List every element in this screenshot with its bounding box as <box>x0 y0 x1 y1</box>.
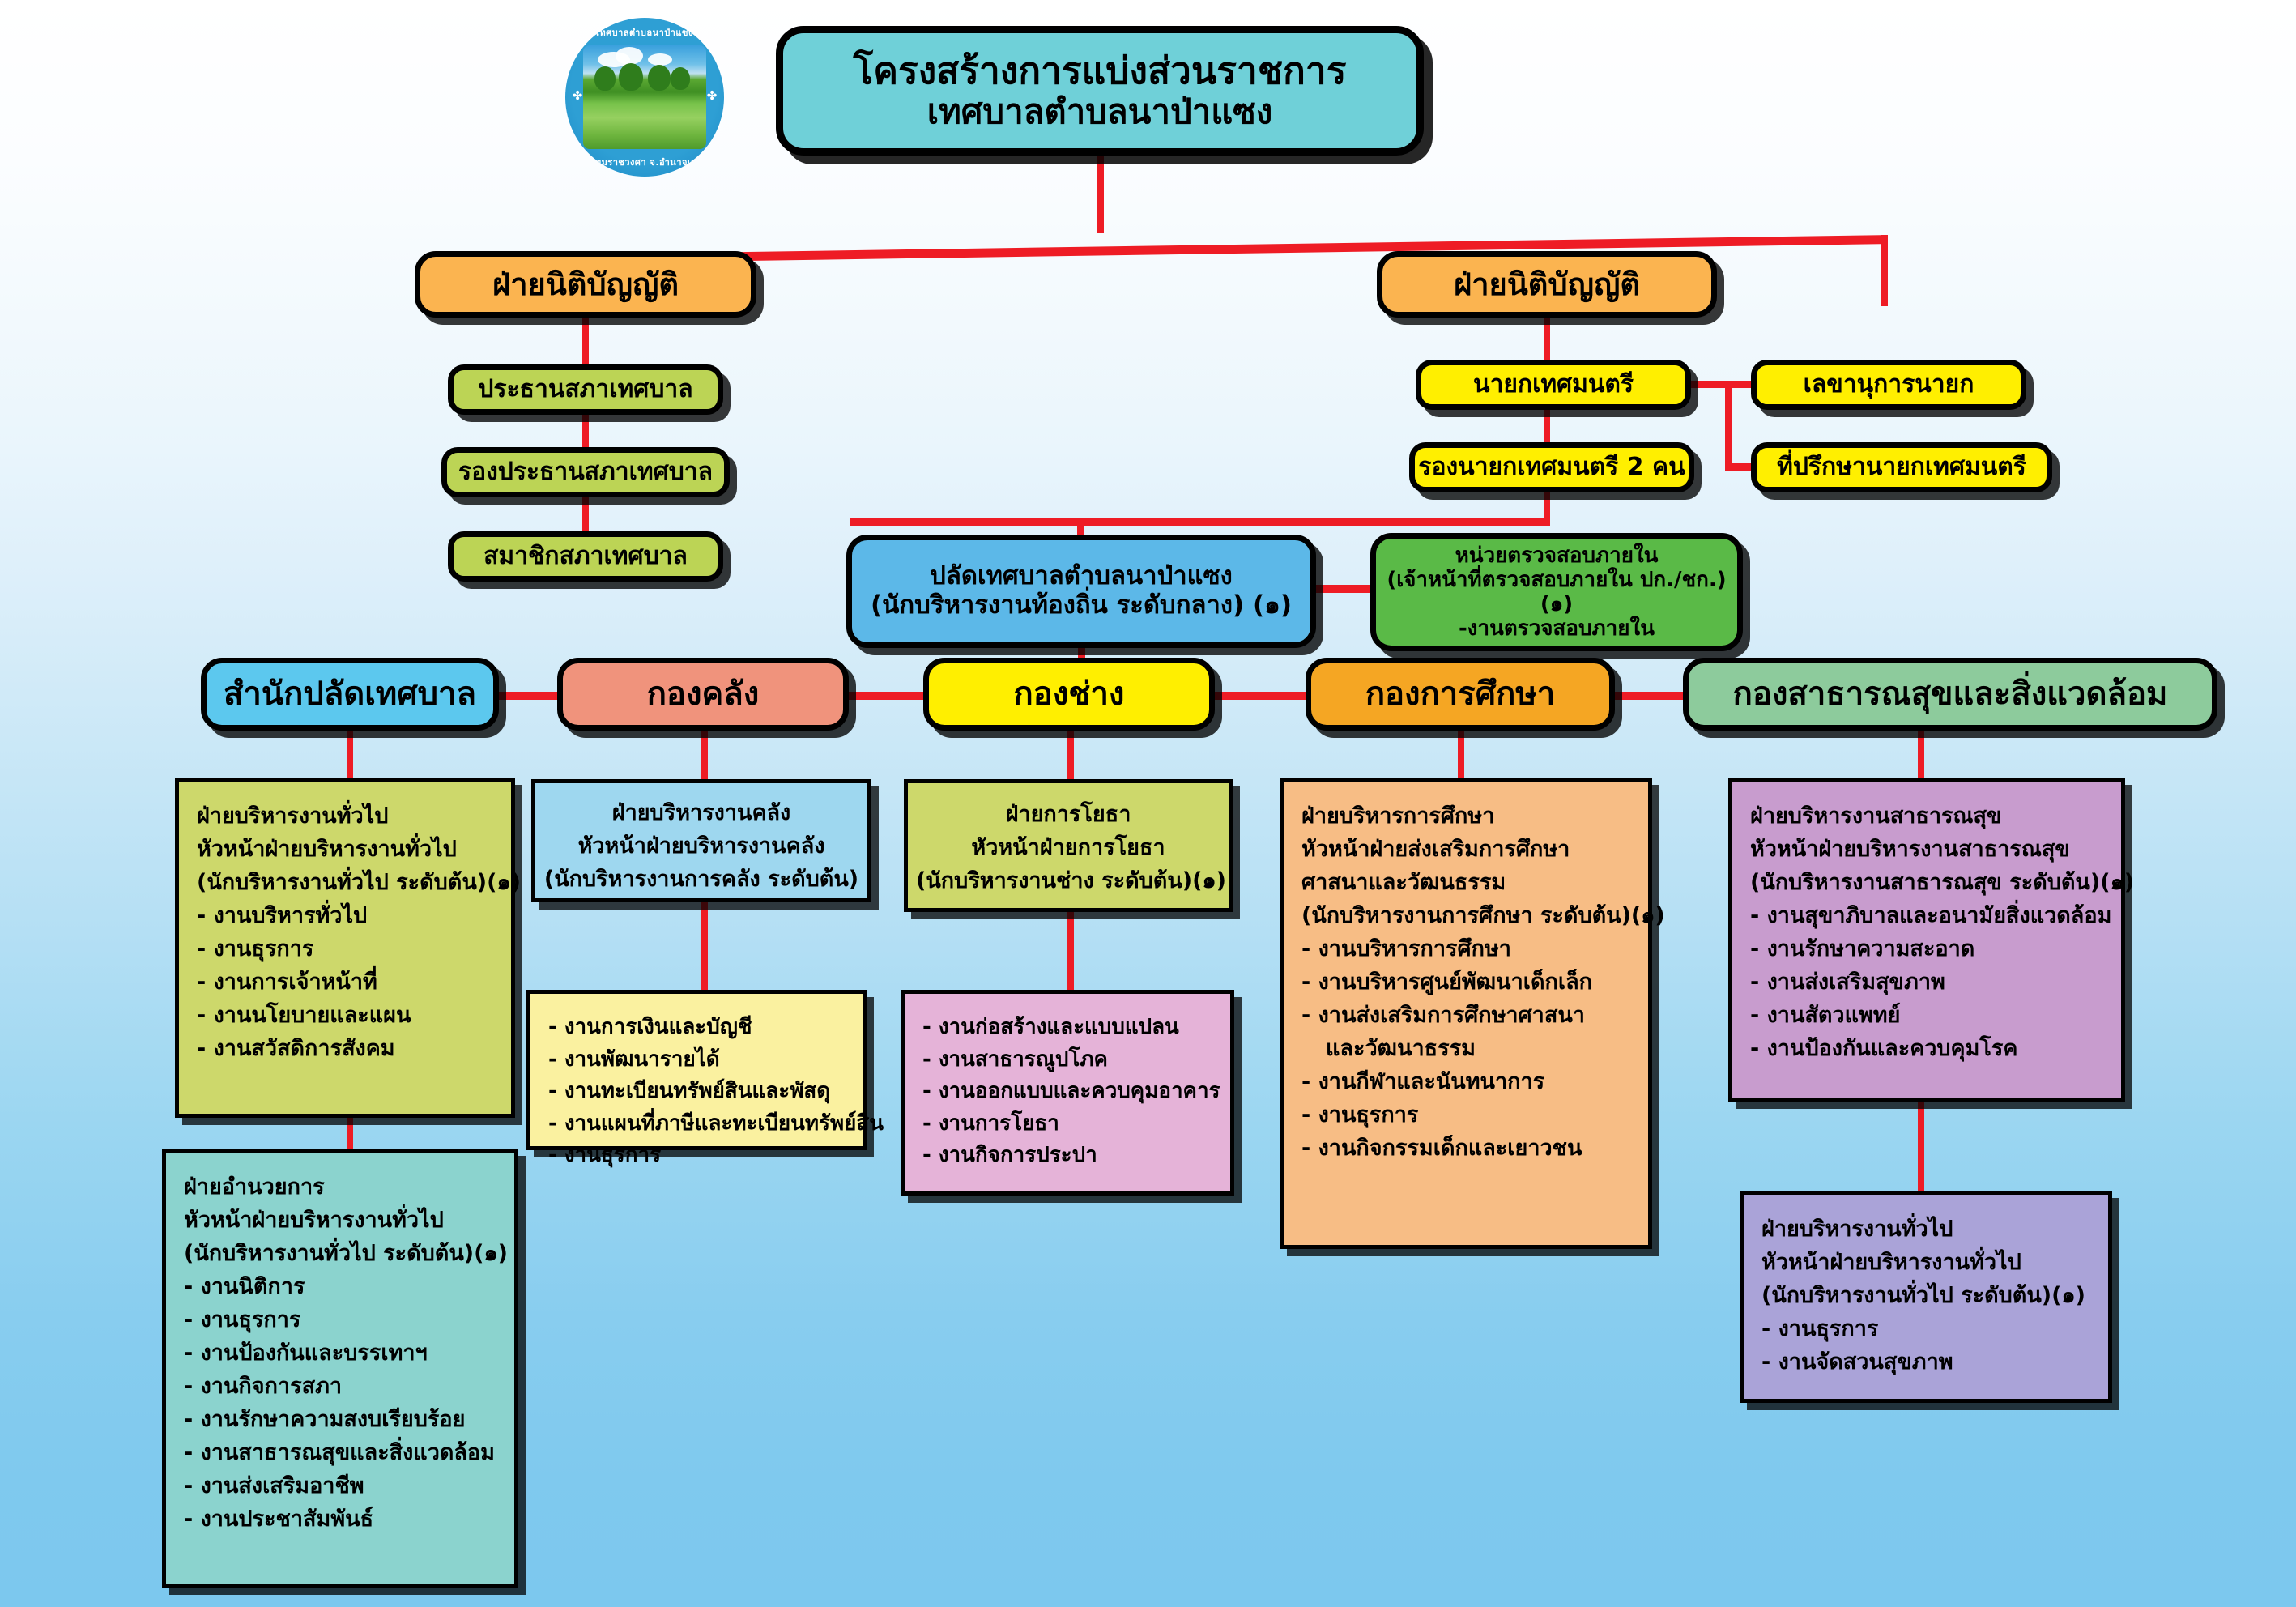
panel-health-main-header-2: (นักบริหารงานสาธารณสุข ระดับต้น)(๑) <box>1750 866 2105 899</box>
mayor-advisor-label: ที่ปรึกษานายกเทศมนตรี <box>1777 454 2026 482</box>
panel-education-header-0: ฝ่ายบริหารการศึกษา <box>1301 799 1632 833</box>
municipality-seal-logo: เทศบาลตำบลนาป่าแซง อ.ปทุมราชวงศา จ.อำนาจ… <box>565 18 724 177</box>
deputy-mayor-label: รองนายกเทศมนตรี 2 คน <box>1418 454 1685 482</box>
panel-office-general-item-0: - งานบริหารทั่วไป <box>197 899 495 932</box>
division-education[interactable]: กองการศึกษา <box>1306 658 1615 731</box>
mayor-secretary-node[interactable]: เลขานุการนายก <box>1751 360 2026 410</box>
panel-office-admin-item-4: - งานรักษาความสงบเรียบร้อย <box>184 1403 498 1436</box>
panel-health-general-item-0: - งานธุรการ <box>1761 1312 2092 1345</box>
panel-health-general-header-0: ฝ่ายบริหารงานทั่วไป <box>1761 1213 2092 1246</box>
panel-works-tasks: - งานก่อสร้างและแบบแปลน - งานสาธารณูปโภค… <box>901 990 1234 1196</box>
panel-health-main-item-2: - งานส่งเสริมสุขภาพ <box>1750 965 2105 999</box>
connector-treasury-down <box>701 729 708 781</box>
panel-office-general-item-3: - งานนโยบายและแผน <box>197 999 495 1032</box>
panel-health-main-item-1: - งานรักษาความสะอาด <box>1750 932 2105 965</box>
seal-star-right-icon: ✤ <box>705 89 718 102</box>
panel-works-head: ฝ่ายการโยธา หัวหน้าฝ่ายการโยธา (นักบริหา… <box>904 779 1233 912</box>
connector-right-branch-down <box>1881 235 1888 306</box>
panel-education-header-2: ศาสนาและวัฒนธรรม <box>1301 866 1632 899</box>
panel-treasury-tasks-item-4: - งานธุรการ <box>548 1140 846 1172</box>
panel-office-general-item-1: - งานธุรการ <box>197 932 495 965</box>
council-chairman-label: ประธานสภาเทศบาล <box>478 376 692 404</box>
legislative-branch-label: ฝ่ายนิติบัญญัติ <box>492 266 679 302</box>
panel-office-general-header-0: ฝ่ายบริหารงานทั่วไป <box>197 799 495 833</box>
mayor-label: นายกเทศมนตรี <box>1473 371 1634 399</box>
seal-top-text: เทศบาลตำบลนาป่าแซง <box>565 25 724 40</box>
panel-office-general-header-1: หัวหน้าฝ่ายบริหารงานทั่วไป <box>197 833 495 866</box>
connector-health-main-to-general <box>1918 1100 1924 1196</box>
panel-office-admin-header-2: (นักบริหารงานทั่วไป ระดับต้น)(๑) <box>184 1237 498 1270</box>
panel-office-admin-item-7: - งานประชาสัมพันธ์ <box>184 1503 498 1536</box>
connector-office-down <box>347 729 353 781</box>
executive-branch-header[interactable]: ฝ่ายนิติบัญญัติ <box>1377 251 1717 318</box>
panel-health-general-header-1: หัวหน้าฝ่ายบริหารงานทั่วไป <box>1761 1246 2092 1279</box>
division-health-environment-label: กองสาธารณสุขและสิ่งแวดล้อม <box>1733 676 2168 713</box>
panel-health-general-header-2: (นักบริหารงานทั่วไป ระดับต้น)(๑) <box>1761 1279 2092 1312</box>
council-members-node[interactable]: สมาชิกสภาเทศบาล <box>448 531 723 582</box>
council-vicechairman-label: รองประธานสภาเทศบาล <box>458 458 713 487</box>
executive-branch-label: ฝ่ายนิติบัญญัติ <box>1454 266 1640 302</box>
connector-legislative-spine <box>582 314 589 567</box>
panel-treasury-tasks-item-3: - งานแผนที่ภาษีและทะเบียนทรัพย์สิน <box>548 1108 846 1140</box>
council-members-label: สมาชิกสภาเทศบาล <box>483 543 688 571</box>
panel-treasury-head: ฝ่ายบริหารงานคลัง หัวหน้าฝ่ายบริหารงานคล… <box>531 779 871 902</box>
deputy-mayor-node[interactable]: รองนายกเทศมนตรี 2 คน <box>1409 442 1694 492</box>
panel-health-general: ฝ่ายบริหารงานทั่วไป หัวหน้าฝ่ายบริหารงาน… <box>1740 1191 2112 1403</box>
panel-treasury-head-header-1: หัวหน้าฝ่ายบริหารงานคลัง <box>543 829 859 863</box>
seal-landscape-image <box>583 45 706 149</box>
connector-works-down <box>1067 729 1074 781</box>
panel-office-general-header-2: (นักบริหารงานทั่วไป ระดับต้น)(๑) <box>197 866 495 899</box>
panel-office-admin-item-2: - งานป้องกันและบรรเทาฯ <box>184 1336 498 1370</box>
page-title: โครงสร้างการแบ่งส่วนราชการ เทศบาลตำบลนาป… <box>776 26 1424 156</box>
panel-office-general-item-4: - งานสวัสดิการสังคม <box>197 1032 495 1065</box>
panel-works-head-header-0: ฝ่ายการโยธา <box>916 798 1220 831</box>
panel-works-tasks-item-3: - งานการโยธา <box>922 1108 1214 1140</box>
panel-health-main-item-3: - งานสัตวแพทย์ <box>1750 999 2105 1032</box>
panel-education: ฝ่ายบริหารการศึกษา หัวหน้าฝ่ายส่งเสริมกา… <box>1280 778 1652 1249</box>
internal-audit-node[interactable]: หน่วยตรวจสอบภายใน (เจ้าหน้าที่ตรวจสอบภาย… <box>1370 533 1743 651</box>
connector-education-down <box>1458 729 1464 781</box>
panel-office-admin-item-3: - งานกิจการสภา <box>184 1370 498 1403</box>
connector-office-general-to-admin <box>347 1116 353 1152</box>
panel-treasury-head-header-0: ฝ่ายบริหารงานคลัง <box>543 796 859 829</box>
legislative-branch-header[interactable]: ฝ่ายนิติบัญญัติ <box>415 251 756 318</box>
panel-health-main-header-0: ฝ่ายบริหารงานสาธารณสุข <box>1750 799 2105 833</box>
division-treasury[interactable]: กองคลัง <box>557 658 849 731</box>
panel-treasury-tasks-item-1: - งานพัฒนารายได้ <box>548 1044 846 1076</box>
division-office-clerk[interactable]: สำนักปลัดเทศบาล <box>201 658 499 731</box>
panel-education-header-1: หัวหน้าฝ่ายส่งเสริมการศึกษา <box>1301 833 1632 866</box>
connector-works-head-to-tasks <box>1067 912 1074 991</box>
panel-office-general-item-2: - งานการเจ้าหน้าที่ <box>197 965 495 999</box>
panel-works-tasks-item-2: - งานออกแบบและควบคุมอาคาร <box>922 1076 1214 1108</box>
panel-office-admin-item-1: - งานธุรการ <box>184 1303 498 1336</box>
panel-education-item-0: - งานบริหารการศึกษา <box>1301 932 1632 965</box>
division-treasury-label: กองคลัง <box>647 676 760 713</box>
council-chairman-node[interactable]: ประธานสภาเทศบาล <box>448 364 723 415</box>
panel-works-head-header-1: หัวหน้าฝ่ายการโยธา <box>916 831 1220 864</box>
division-works[interactable]: กองช่าง <box>923 658 1215 731</box>
internal-audit-line1: หน่วยตรวจสอบภายใน <box>1455 543 1659 568</box>
panel-treasury-tasks-item-2: - งานทะเบียนทรัพย์สินและพัสดุ <box>548 1076 846 1108</box>
connector-treasury-head-to-tasks <box>701 901 708 991</box>
panel-treasury-tasks: - งานการเงินและบัญชี - งานพัฒนารายได้ - … <box>526 990 867 1150</box>
panel-education-item-5: - งานกิจกรรมเด็กและเยาวชน <box>1301 1132 1632 1165</box>
connector-mayor-to-right <box>1691 381 1756 388</box>
org-chart-canvas: เทศบาลตำบลนาป่าแซง อ.ปทุมราชวงศา จ.อำนาจ… <box>0 0 2296 1607</box>
division-education-label: กองการศึกษา <box>1365 676 1555 713</box>
mayor-secretary-label: เลขานุการนายก <box>1804 371 1974 399</box>
panel-education-item-4: - งานธุรการ <box>1301 1098 1632 1132</box>
panel-office-admin-header-1: หัวหน้าฝ่ายบริหารงานทั่วไป <box>184 1204 498 1237</box>
panel-office-general: ฝ่ายบริหารงานทั่วไป หัวหน้าฝ่ายบริหารงาน… <box>175 778 515 1118</box>
municipal-clerk-node[interactable]: ปลัดเทศบาลตำบลนาป่าแซง (นักบริหารงานท้อง… <box>846 535 1316 648</box>
council-vicechairman-node[interactable]: รองประธานสภาเทศบาล <box>441 447 730 497</box>
mayor-node[interactable]: นายกเทศมนตรี <box>1416 360 1691 410</box>
panel-works-tasks-item-4: - งานกิจการประปา <box>922 1140 1214 1172</box>
division-health-environment[interactable]: กองสาธารณสุขและสิ่งแวดล้อม <box>1683 658 2217 731</box>
panel-education-item-3: - งานกีฬาและนันทนาการ <box>1301 1065 1632 1098</box>
panel-office-admin-item-6: - งานส่งเสริมอาชีพ <box>184 1469 498 1503</box>
panel-office-admin-item-0: - งานนิติการ <box>184 1270 498 1303</box>
panel-office-admin-header-0: ฝ่ายอำนวยการ <box>184 1170 498 1204</box>
internal-audit-line2: (เจ้าหน้าที่ตรวจสอบภายใน ปก./ชก.) (๑) <box>1376 568 1737 616</box>
panel-health-main-item-4: - งานป้องกันและควบคุมโรค <box>1750 1032 2105 1065</box>
seal-bottom-text: อ.ปทุมราชวงศา จ.อำนาจเจริญ <box>565 155 724 169</box>
connector-deputy-to-clerk-bus <box>850 518 1550 526</box>
panel-education-item-2: - งานส่งเสริมการศึกษาศาสนา <box>1301 999 1632 1032</box>
connector-right-vertical <box>1725 381 1732 470</box>
panel-works-tasks-item-0: - งานก่อสร้างและแบบแปลน <box>922 1012 1214 1044</box>
connector-health-down <box>1918 729 1924 781</box>
municipal-clerk-line1: ปลัดเทศบาลตำบลนาป่าแซง <box>930 562 1233 591</box>
panel-treasury-tasks-item-0: - งานการเงินและบัญชี <box>548 1012 846 1044</box>
panel-education-subitem: และวัฒนาธรรม <box>1301 1032 1632 1065</box>
connector-clerk-to-audit <box>1316 585 1374 593</box>
panel-works-head-header-2: (นักบริหารงานช่าง ระดับต้น)(๑) <box>916 864 1220 897</box>
panel-education-header-3: (นักบริหารงานการศึกษา ระดับต้น)(๑) <box>1301 899 1632 932</box>
page-title-line2: เทศบาลตำบลนาป่าแซง <box>927 92 1273 132</box>
internal-audit-line3: -งานตรวจสอบภายใน <box>1459 616 1655 641</box>
panel-health-main-item-0: - งานสุขาภิบาลและอนามัยสิ่งแวดล้อม <box>1750 899 2105 932</box>
mayor-advisor-node[interactable]: ที่ปรึกษานายกเทศมนตรี <box>1751 442 2052 492</box>
page-title-line1: โครงสร้างการแบ่งส่วนราชการ <box>854 49 1347 92</box>
panel-education-item-1: - งานบริหารศูนย์พัฒนาเด็กเล็ก <box>1301 965 1632 999</box>
panel-works-tasks-item-1: - งานสาธารณูปโภค <box>922 1044 1214 1076</box>
panel-health-main: ฝ่ายบริหารงานสาธารณสุข หัวหน้าฝ่ายบริหาร… <box>1728 778 2125 1102</box>
panel-office-admin-item-5: - งานสาธารณสุขและสิ่งแวดล้อม <box>184 1436 498 1469</box>
seal-star-left-icon: ✤ <box>571 89 584 102</box>
panel-health-general-item-1: - งานจัดสวนสุขภาพ <box>1761 1345 2092 1379</box>
division-works-label: กองช่าง <box>1014 676 1125 713</box>
division-office-clerk-label: สำนักปลัดเทศบาล <box>224 676 476 713</box>
panel-treasury-head-header-2: (นักบริหารงานการคลัง ระดับต้น) <box>543 863 859 896</box>
municipal-clerk-line2: (นักบริหารงานท้องถิ่น ระดับกลาง) (๑) <box>871 591 1292 620</box>
panel-office-admin: ฝ่ายอำนวยการ หัวหน้าฝ่ายบริหารงานทั่วไป … <box>162 1149 518 1588</box>
connector-title-down <box>1097 156 1104 233</box>
panel-health-main-header-1: หัวหน้าฝ่ายบริหารงานสาธารณสุข <box>1750 833 2105 866</box>
